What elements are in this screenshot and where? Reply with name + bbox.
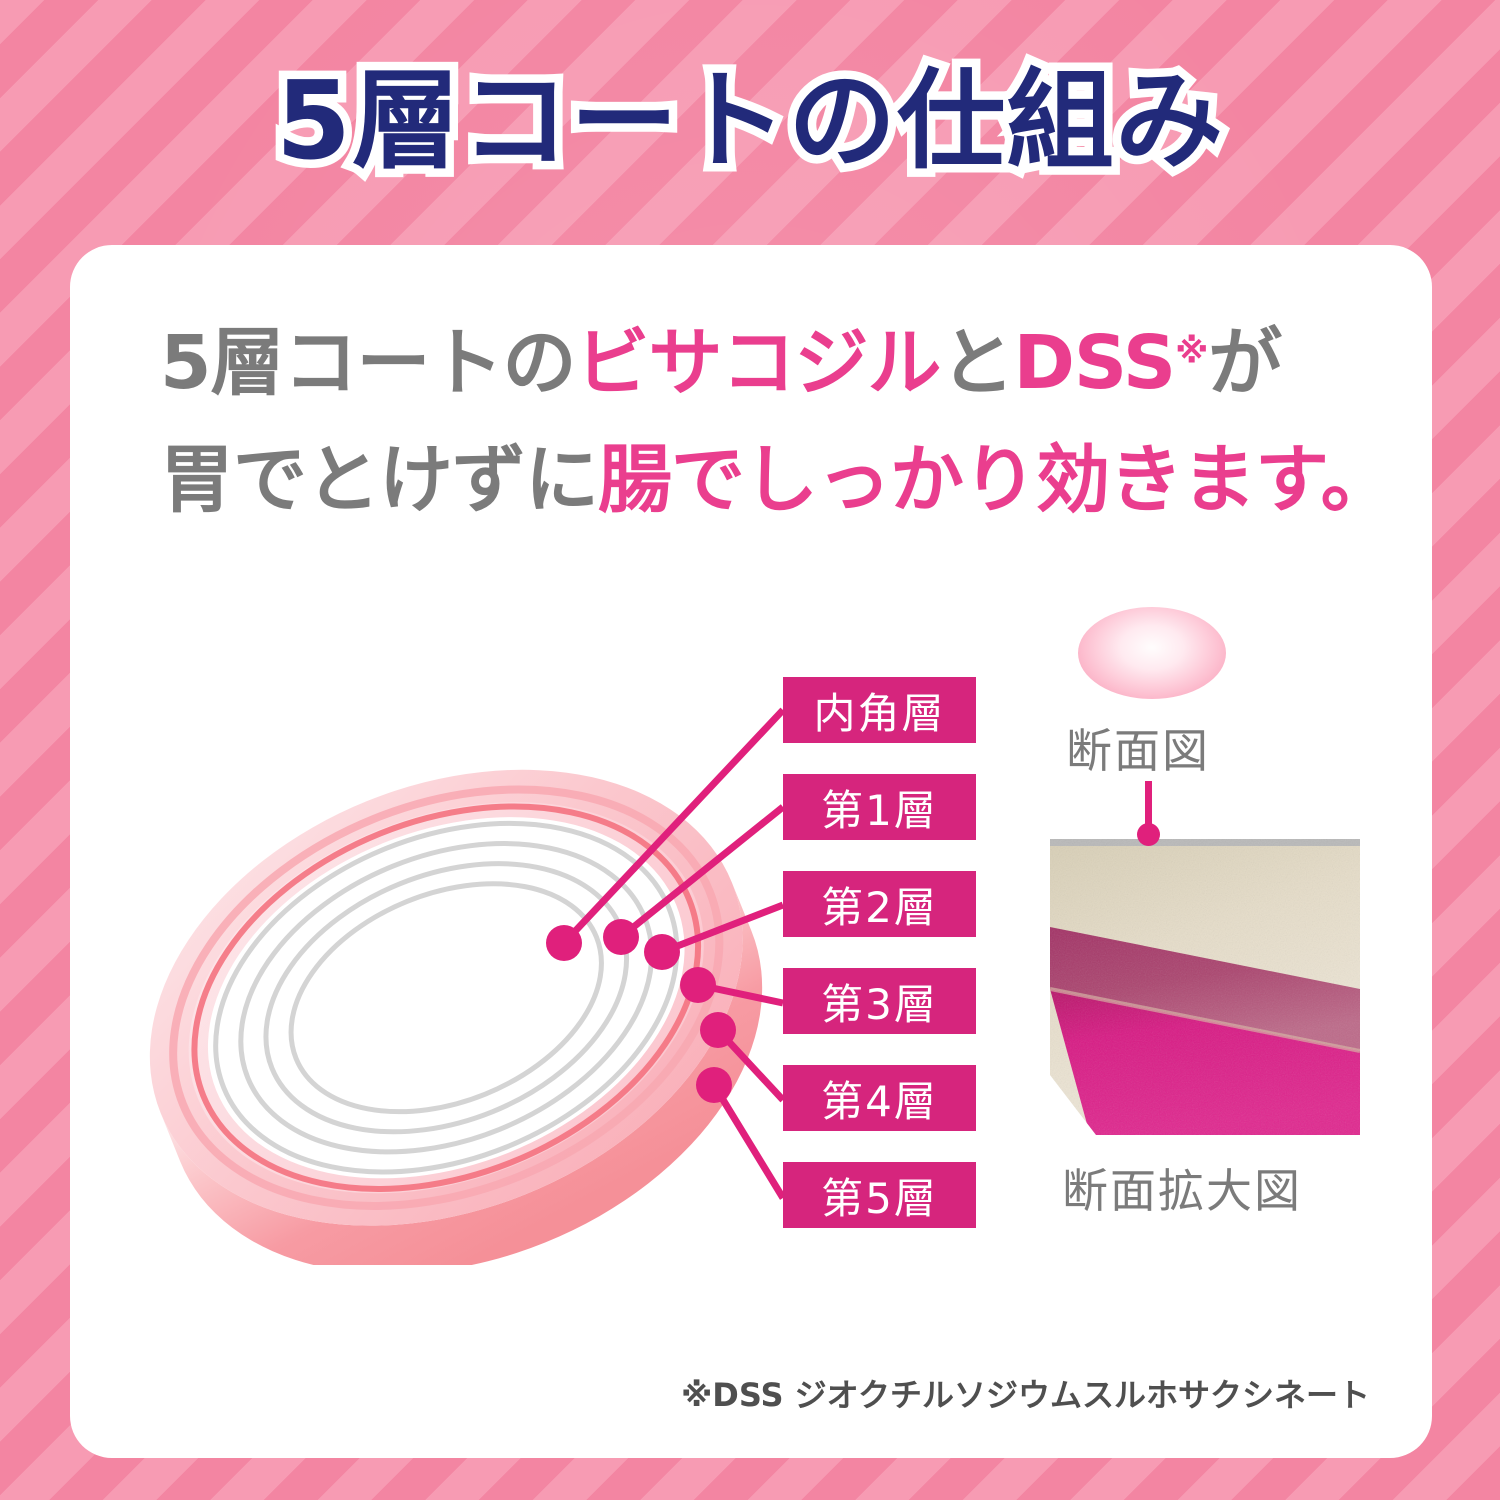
lead-line1-gray-c: が — [1208, 320, 1281, 406]
layer-label-2: 第2層 — [783, 871, 976, 937]
cross-section-caption: 断面図 — [1066, 715, 1390, 781]
lead-line2-pink: 腸でしっかり効きます。 — [598, 437, 1394, 523]
pin-pointer-icon — [1145, 781, 1390, 845]
magnified-caption: 断面拡大図 — [1062, 1155, 1390, 1221]
tablet-svg — [110, 745, 790, 1265]
tablet-diagram — [110, 745, 790, 1265]
micrograph-image — [1050, 839, 1360, 1135]
layer-label-list: 内角層 第1層 第2層 第3層 第4層 第5層 — [783, 677, 983, 1259]
pointer-dot — [1137, 823, 1160, 846]
lead-line1-gray-a: 5層コートの — [160, 320, 576, 406]
page-title-container: 5層コートの仕組み — [0, 58, 1500, 185]
layer-label-3: 第3層 — [783, 968, 976, 1034]
micrograph-svg — [1050, 839, 1360, 1135]
lead-line1-pink-b: DSS — [1014, 320, 1176, 406]
lead-copy: 5層コートのビサコジルとDSS※が 胃でとけずに腸でしっかり効きます。 — [160, 305, 1360, 539]
tablet-ellipse-icon — [1078, 607, 1226, 699]
lead-line2-gray: 胃でとけずに — [160, 437, 598, 523]
lead-line-2: 胃でとけずに腸でしっかり効きます。 — [160, 422, 1360, 539]
footnote: ※DSS ジオクチルソジウムスルホサクシネート — [681, 1370, 1370, 1416]
lead-line1-pink-a: ビサコジル — [576, 320, 941, 406]
footnote-marker-icon: ※ — [1175, 331, 1208, 371]
layer-label-4: 第4層 — [783, 1065, 976, 1131]
layer-label-0: 内角層 — [783, 677, 976, 743]
lead-line1-gray-b: と — [941, 320, 1014, 406]
lead-line-1: 5層コートのビサコジルとDSS※が — [160, 305, 1360, 422]
cross-section-column: 断面図 — [1050, 607, 1390, 1221]
layer-label-5: 第5層 — [783, 1162, 976, 1228]
infographic-root: 5層コートの仕組み 5層コートのビサコジルとDSS※が 胃でとけずに腸でしっかり… — [0, 0, 1500, 1500]
page-title: 5層コートの仕組み — [276, 58, 1224, 185]
content-card: 5層コートのビサコジルとDSS※が 胃でとけずに腸でしっかり効きます。 — [70, 245, 1432, 1458]
layer-label-1: 第1層 — [783, 774, 976, 840]
